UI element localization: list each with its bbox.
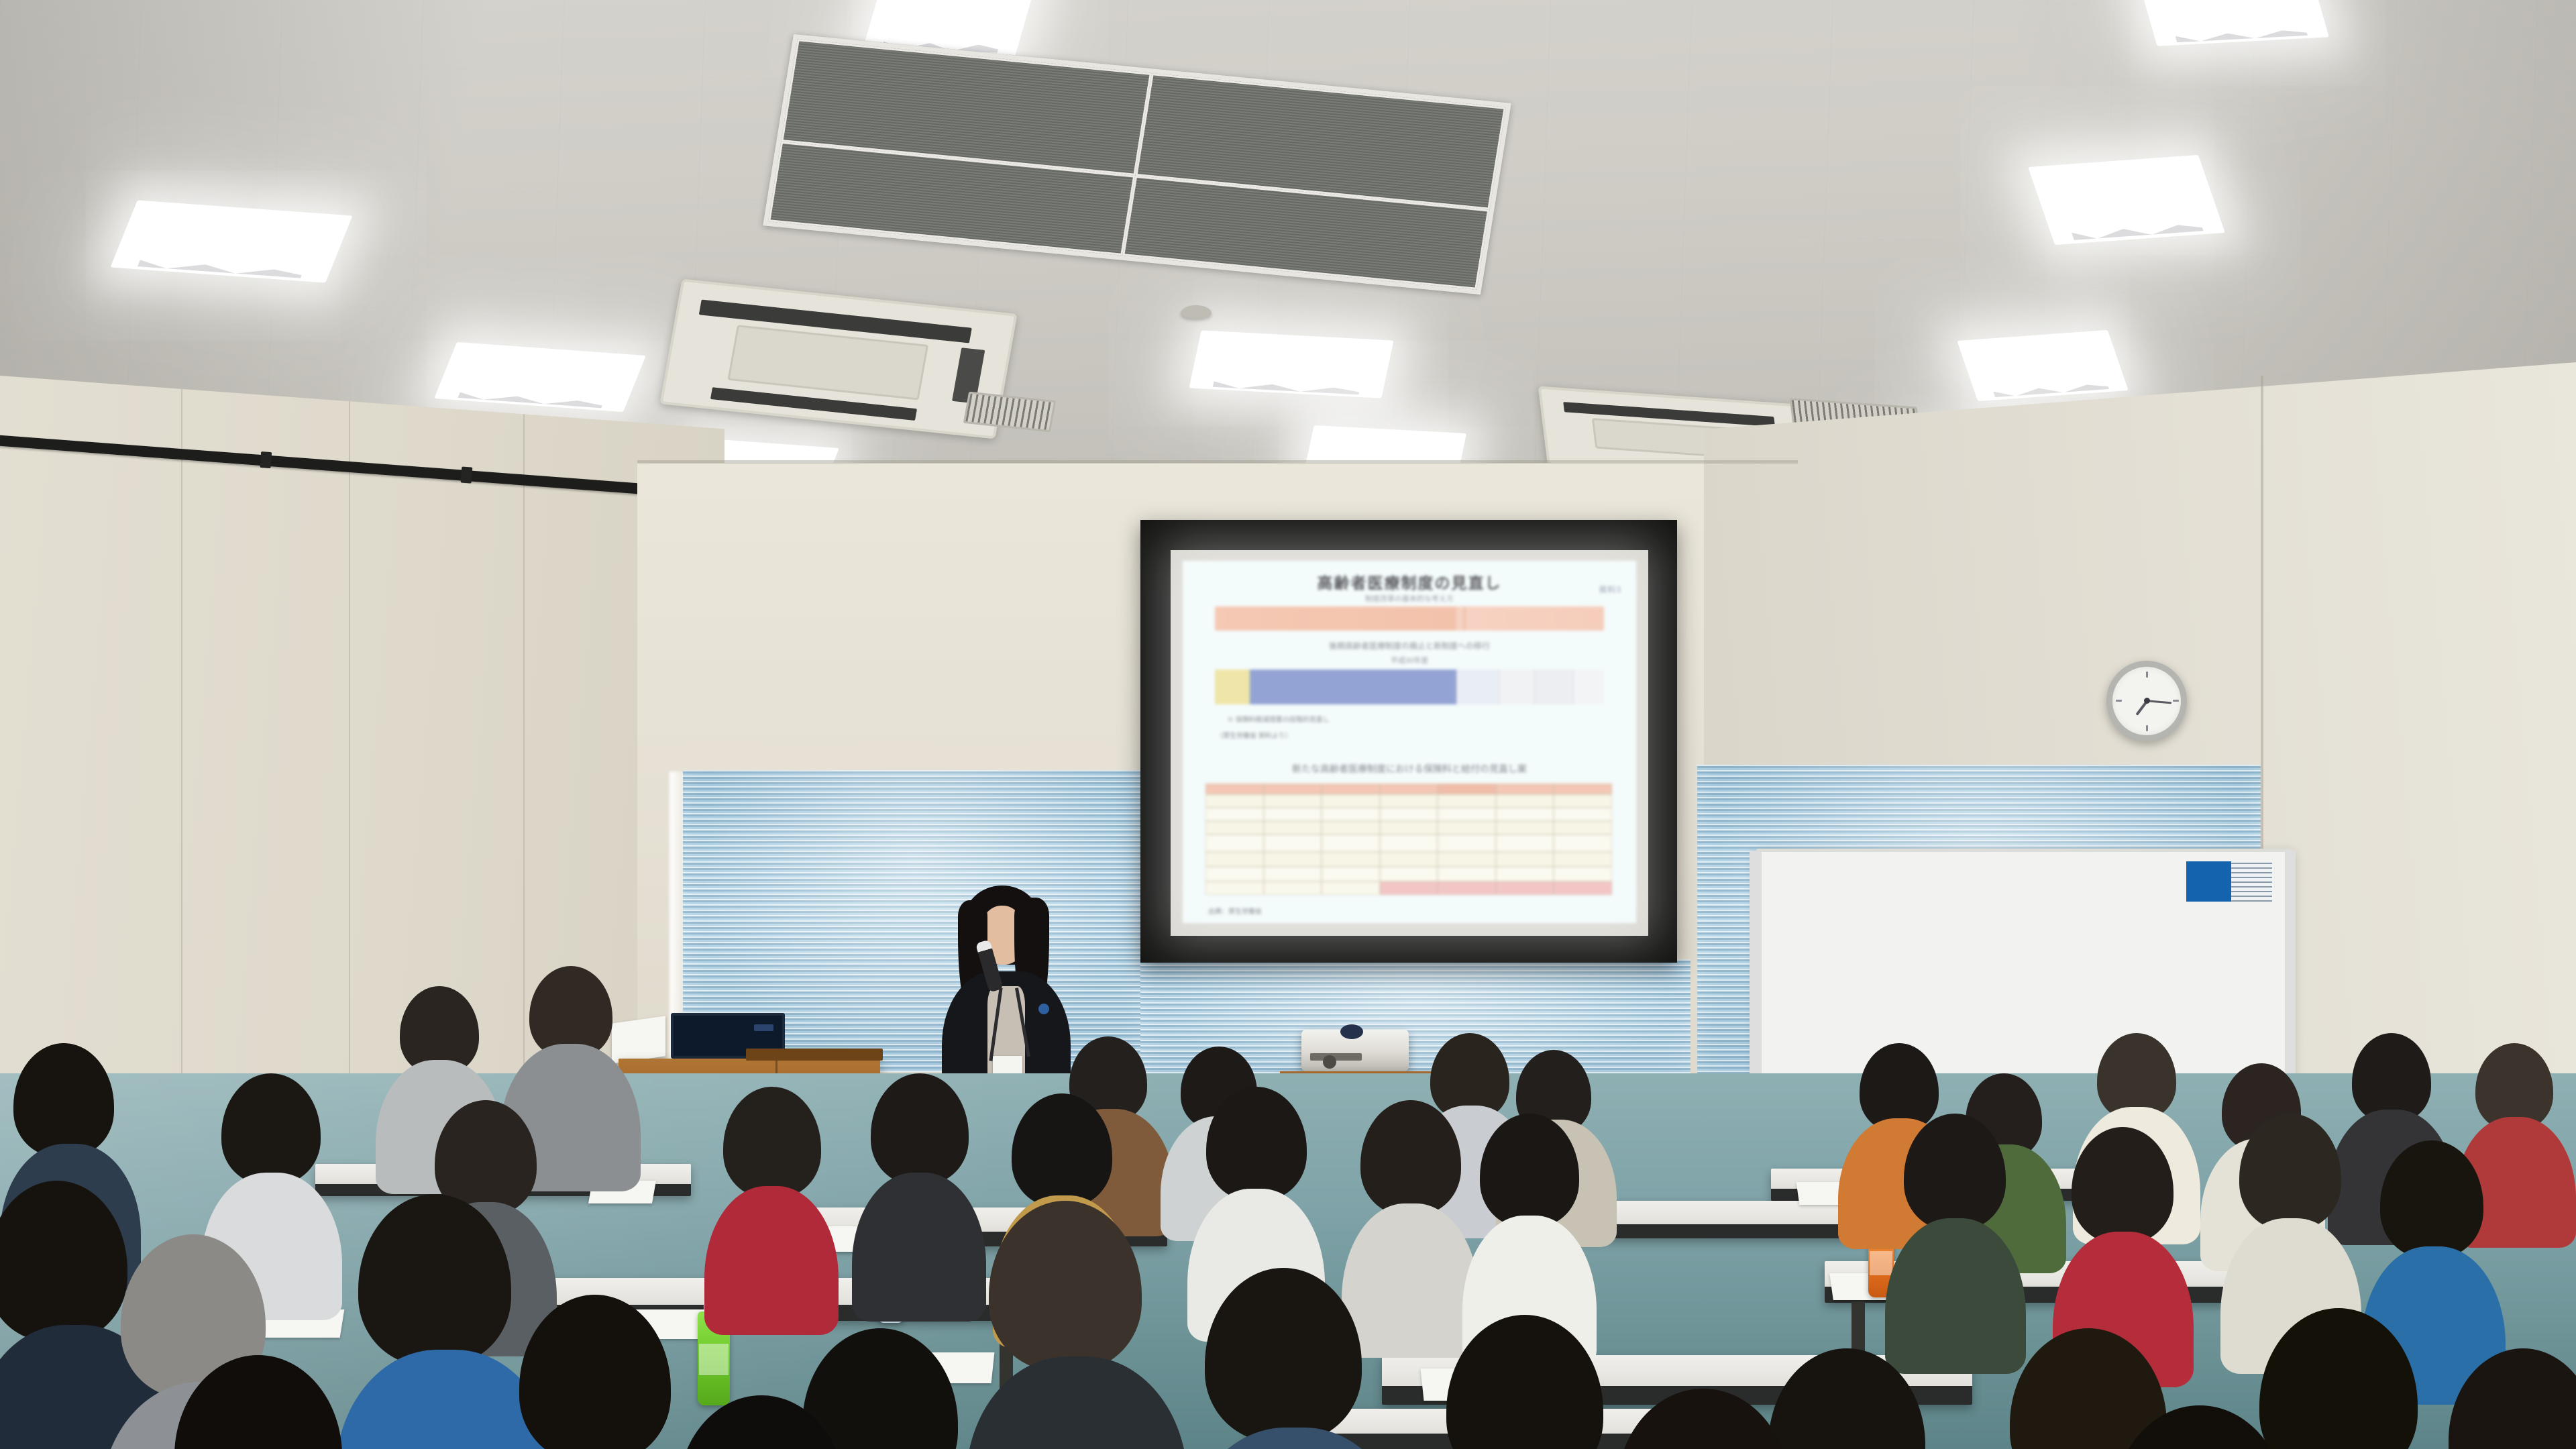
torso — [1181, 1428, 1409, 1449]
bar-cell-light — [1534, 669, 1573, 704]
table-cell — [1438, 881, 1496, 895]
table-cell — [1264, 867, 1322, 881]
table-cell — [1496, 784, 1554, 794]
slide-lower-heading: 新たな高齢者医療制度における保険料と給付の見直し案 — [1183, 762, 1636, 775]
head — [871, 1073, 969, 1185]
ceiling-lamp — [2028, 155, 2225, 245]
head — [13, 1043, 114, 1157]
presenter-lapel-pin-icon — [1038, 1004, 1049, 1014]
head — [2113, 1405, 2286, 1449]
head — [1617, 1389, 1790, 1449]
table-cell — [1205, 794, 1264, 808]
table-cell — [1438, 867, 1496, 881]
table-cell — [1380, 821, 1438, 835]
magnet-blue-half — [2186, 861, 2231, 902]
head — [989, 1201, 1142, 1371]
head — [1904, 1114, 2006, 1230]
projector-lens — [1340, 1024, 1363, 1039]
table-cell — [1322, 784, 1380, 794]
projector-knob — [1323, 1055, 1336, 1069]
table-cell — [1496, 835, 1554, 852]
table-cell — [1264, 821, 1322, 835]
table-row — [1205, 867, 1612, 881]
slide-note-2: （厚生労働省 資料より） — [1216, 730, 1292, 740]
slide-data-table — [1205, 784, 1612, 903]
audience-member — [2093, 1405, 2348, 1449]
clock-tick — [2146, 672, 2148, 678]
table-cell — [1438, 808, 1496, 821]
bar-cell-blue — [1250, 669, 1456, 704]
slide-subtitle: 制度改革の基本的な考え方 — [1183, 593, 1636, 604]
bar-cell-light — [1499, 669, 1534, 704]
slide-bar-row — [1215, 669, 1604, 704]
table-cell — [1496, 867, 1554, 881]
wall-clock — [2106, 661, 2187, 741]
table-cell — [1438, 784, 1496, 794]
ceiling-lamp — [1957, 330, 2128, 401]
table-cell — [1496, 794, 1554, 808]
table-row — [1205, 808, 1612, 821]
lectern-top — [746, 1049, 883, 1061]
table-cell — [1264, 881, 1322, 895]
table-cell — [1380, 867, 1438, 881]
slide-note-1: ※ 保険料軽減措置の段階的見直し — [1227, 714, 1330, 724]
table-cell — [1438, 835, 1496, 852]
table-cell — [1264, 835, 1322, 852]
head — [358, 1194, 511, 1366]
table-cell — [1496, 808, 1554, 821]
bar-cell-light — [1456, 669, 1499, 704]
table-cell — [1380, 852, 1438, 867]
projector — [1301, 1030, 1409, 1071]
head — [678, 1395, 845, 1449]
table-cell — [1322, 867, 1380, 881]
table-cell — [1264, 852, 1322, 867]
table-cell — [1264, 794, 1322, 808]
clock-tick — [2116, 700, 2122, 702]
audience-member — [2053, 1127, 2194, 1362]
head — [1206, 1087, 1307, 1201]
head — [2239, 1114, 2341, 1230]
audience-member — [2428, 1348, 2576, 1449]
torso — [704, 1186, 839, 1335]
table-cell — [1205, 808, 1264, 821]
table-footer-row — [1205, 881, 1612, 895]
partition-seam — [181, 389, 182, 1167]
slide-title: 高齢者医療制度の見直し — [1183, 570, 1636, 593]
table-row — [1205, 794, 1612, 808]
table-cell — [1205, 867, 1264, 881]
audience-member — [966, 1201, 1187, 1449]
table-cell — [1380, 808, 1438, 821]
rail-clip — [461, 466, 473, 483]
clock-tick — [2146, 725, 2148, 731]
slide-band-right-label: 平成30年度 — [1183, 655, 1636, 665]
table-cell — [1554, 821, 1612, 835]
ac-filter-panel — [727, 325, 928, 400]
magnet-grid-half — [2231, 861, 2272, 902]
table-cell — [1554, 881, 1612, 895]
banner-divider — [1464, 606, 1465, 631]
table-cell — [1554, 852, 1612, 867]
table-row — [1205, 852, 1612, 867]
head — [723, 1087, 821, 1198]
audience-member — [154, 1355, 396, 1449]
head — [221, 1073, 321, 1185]
head — [1480, 1114, 1579, 1228]
table-cell — [1438, 852, 1496, 867]
audience-member — [657, 1395, 899, 1449]
table-cell — [1322, 821, 1380, 835]
audience-member — [1462, 1114, 1597, 1342]
head — [174, 1355, 342, 1449]
table-cell — [1554, 808, 1612, 821]
table-cell — [1554, 784, 1612, 794]
table-header-row — [1205, 784, 1612, 794]
table-cell — [1380, 835, 1438, 852]
rail-clip — [260, 451, 272, 468]
table-cell — [1554, 794, 1612, 808]
table-cell — [1322, 835, 1380, 852]
photo-scene: 高齢者医療制度の見直し 資料3 制度改革の基本的な考え方 後期高齢者医療制度の廃… — [0, 0, 2576, 1449]
bar-cell-yellow — [1215, 669, 1250, 704]
table-cell — [1554, 835, 1612, 852]
table-cell — [1205, 835, 1264, 852]
table-cell — [1380, 784, 1438, 794]
head — [1012, 1093, 1112, 1207]
smoke-detector-icon — [1181, 305, 1212, 319]
head — [2072, 1127, 2173, 1244]
table-cell — [1322, 881, 1380, 895]
table-cell — [1554, 867, 1612, 881]
ceiling-lamp — [1189, 330, 1393, 398]
table-cell — [1496, 881, 1554, 895]
table-cell — [1205, 881, 1264, 895]
head — [1446, 1315, 1603, 1449]
table-cell — [1205, 821, 1264, 835]
table-cell — [1380, 794, 1438, 808]
table-cell — [1438, 821, 1496, 835]
audience-member — [704, 1087, 839, 1308]
projected-slide: 高齢者医療制度の見直し 資料3 制度改革の基本的な考え方 後期高齢者医療制度の廃… — [1183, 561, 1636, 923]
bar-cell-light — [1573, 669, 1604, 704]
ceiling-wall-joint — [637, 460, 1798, 464]
whiteboard-magnet-icon[interactable] — [2186, 861, 2272, 902]
table-cell — [1205, 852, 1264, 867]
head — [1360, 1100, 1461, 1216]
table-cell — [1205, 784, 1264, 794]
audience-member — [1597, 1389, 1851, 1449]
table-cell — [1264, 784, 1322, 794]
table-cell — [1322, 808, 1380, 821]
audience-member — [1885, 1114, 2026, 1348]
table-cell — [1322, 794, 1380, 808]
slide-footnote: 出典：厚生労働省 — [1208, 906, 1262, 916]
slide-band-label: 後期高齢者医療制度の廃止と新制度への移行 — [1183, 640, 1636, 651]
table-cell — [1264, 808, 1322, 821]
head — [2380, 1140, 2483, 1258]
clock-center-pin — [2144, 698, 2150, 704]
table-row — [1205, 835, 1612, 852]
clock-tick — [2173, 700, 2179, 702]
head — [2449, 1348, 2576, 1449]
table-cell — [1380, 881, 1438, 895]
table-cell — [1496, 821, 1554, 835]
table-cell — [1322, 852, 1380, 867]
head — [1205, 1268, 1362, 1442]
table-cell — [1438, 794, 1496, 808]
table-row — [1205, 821, 1612, 835]
slide-peach-banner — [1215, 606, 1604, 631]
table-cell — [1496, 852, 1554, 867]
partition-seam — [349, 401, 350, 1179]
torso — [966, 1356, 1187, 1449]
clock-minute-hand — [2147, 700, 2172, 704]
audience-member — [1181, 1268, 1409, 1449]
head — [519, 1295, 671, 1449]
